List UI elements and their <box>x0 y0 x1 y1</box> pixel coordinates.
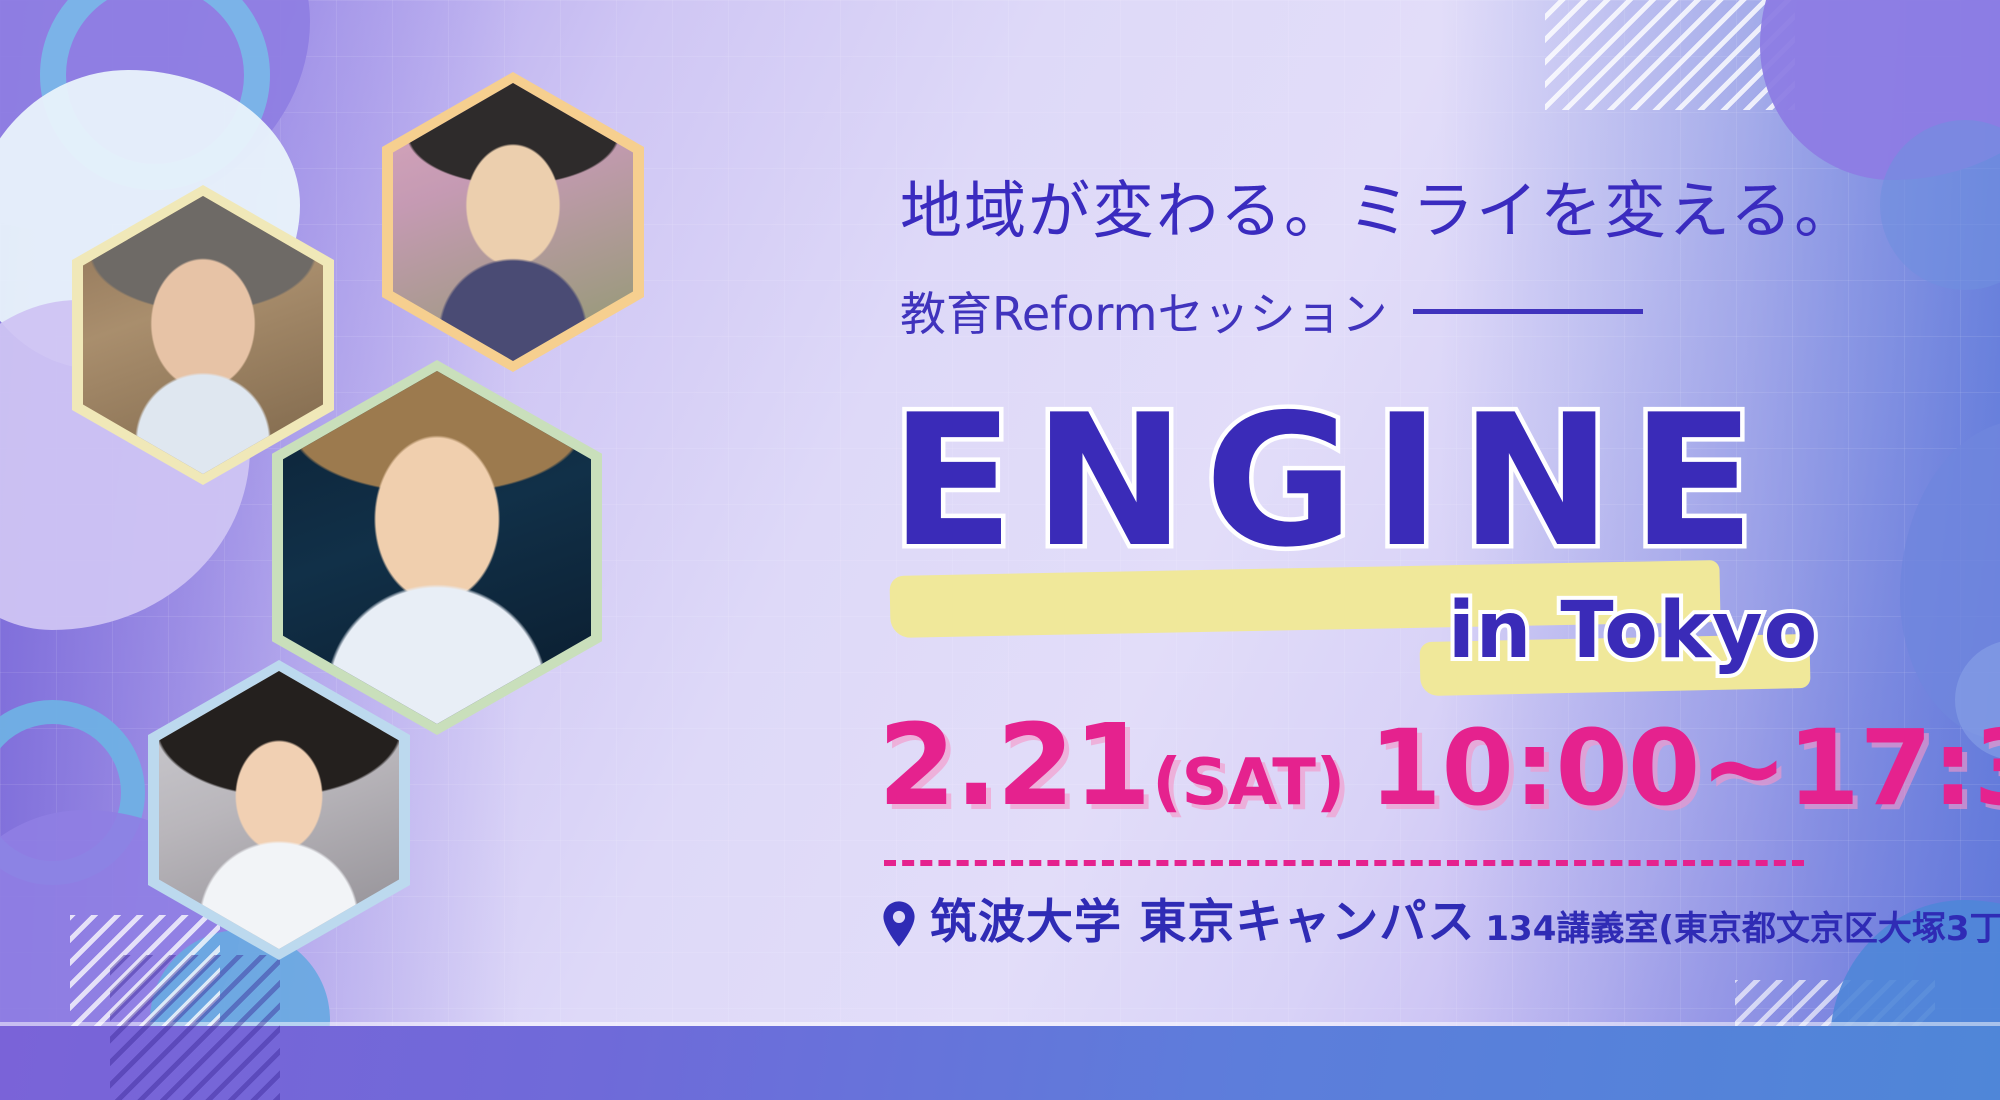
speaker-photo-4 <box>148 660 410 960</box>
event-weekday: (SAT) <box>1152 751 1345 815</box>
venue-name: 筑波大学 東京キャンパス <box>930 898 1475 947</box>
date-time-row: 2.21 (SAT) 10:00~17:30 <box>878 710 2000 822</box>
title-zone: ENGINE in Tokyo <box>860 370 1940 670</box>
session-label-row: 教育Reformセッション <box>900 278 1643 344</box>
event-time: 10:00~17:30 <box>1369 716 2000 820</box>
venue-detail: 134講義室(東京都文京区大塚3丁目29-1) <box>1485 912 2000 948</box>
event-banner: 地域が変わる。ミライを変える。 教育Reformセッション ENGINE in … <box>0 0 2000 1100</box>
session-label-rule <box>1413 309 1643 314</box>
speaker-photo-4-image <box>159 671 399 949</box>
speaker-photo-2-image <box>393 83 633 361</box>
dashed-divider <box>884 860 1804 866</box>
tagline: 地域が変わる。ミライを変える。 <box>900 160 1858 250</box>
map-pin-icon <box>882 901 916 947</box>
venue-row: 筑波大学 東京キャンパス 134講義室(東京都文京区大塚3丁目29-1) <box>882 898 2000 947</box>
session-label: 教育Reformセッション <box>900 278 1387 344</box>
title-suffix: in Tokyo <box>1448 592 1818 670</box>
deco-stripes-bottom-dark <box>110 955 280 1100</box>
event-date: 2.21 <box>878 710 1150 822</box>
content-column: 地域が変わる。ミライを変える。 教育Reformセッション ENGINE in … <box>860 0 1940 1100</box>
speaker-photo-2 <box>382 72 644 372</box>
page-title: ENGINE <box>890 390 1774 572</box>
